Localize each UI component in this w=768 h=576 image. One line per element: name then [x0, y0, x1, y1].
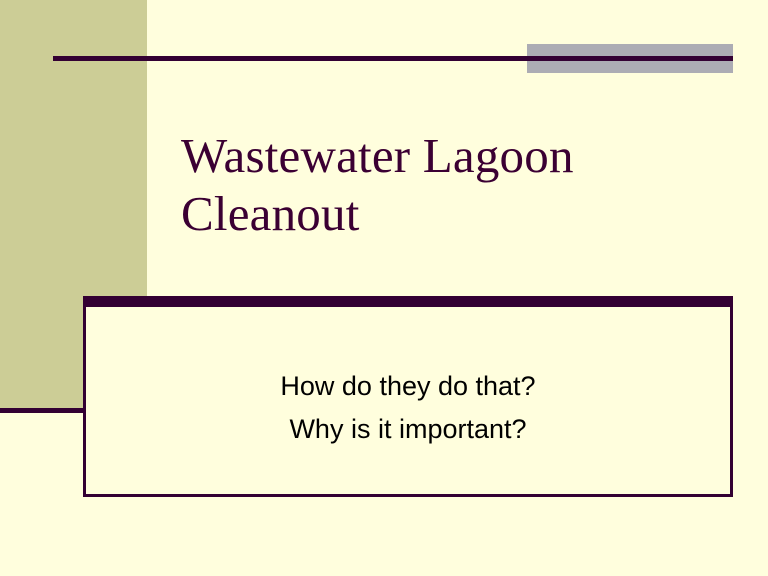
subtitle-content-box: How do they do that? Why is it important…	[83, 296, 733, 497]
subtitle-text-group: How do they do that? Why is it important…	[86, 365, 730, 451]
slide-title: Wastewater Lagoon Cleanout	[181, 127, 741, 243]
subtitle-line: Why is it important?	[86, 408, 730, 451]
presentation-slide: Wastewater Lagoon Cleanout How do they d…	[0, 0, 768, 576]
header-horizontal-rule	[53, 56, 733, 61]
subtitle-line: How do they do that?	[86, 365, 730, 408]
